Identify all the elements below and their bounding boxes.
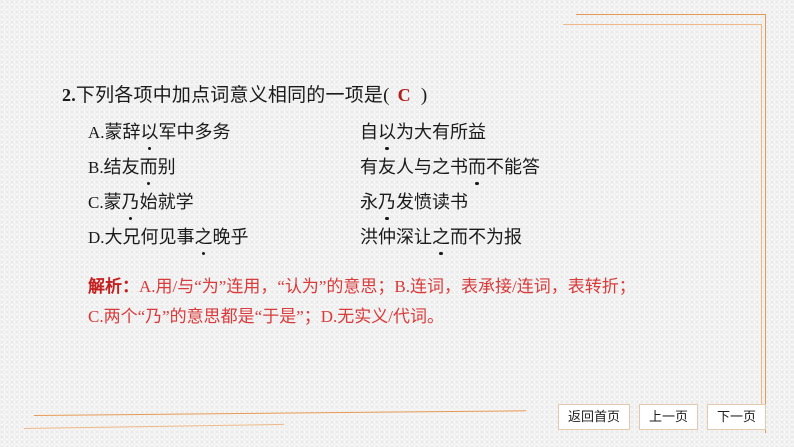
option-a-left-post: 军中多务 [159,122,231,142]
previous-page-button[interactable]: 上一页 [639,404,698,430]
option-c-right-pre: 永 [360,192,378,212]
option-a-left-pre: 蒙辞 [105,122,141,142]
navigation-bar: 返回首页 上一页 下一页 [558,404,766,430]
option-row-d: D.大兄何见事之晚乎 洪仲深让之而不为报 [88,225,628,260]
option-b-right-post: 不能答 [486,157,540,177]
option-b-left-pre: 结友 [104,157,140,177]
option-d-left-emphasis: 之 [195,227,213,247]
question-text-before: 下列各项中加点词意义相同的一项是( [76,85,390,106]
option-c-left-post: 始就学 [140,192,194,212]
option-c-right-post: 发愤读书 [396,192,468,212]
back-to-home-button[interactable]: 返回首页 [558,404,630,430]
option-d-left: D.大兄何见事之晚乎 [88,225,360,250]
option-a-right-emphasis: 以 [378,122,396,142]
option-a-right: 自以为大有所益 [360,120,628,144]
option-b-left: B.结友而别 [88,155,360,180]
option-b-left-post: 别 [158,157,176,177]
option-a-right-pre: 自 [360,122,378,142]
option-b-right-pre: 有友人与之书 [360,157,468,177]
analysis-text-2: C.两个“乃”的意思都是“于是”；D.无实义/代词。 [88,307,444,326]
option-c-left-emphasis: 乃 [122,192,140,212]
option-c-right-emphasis: 乃 [378,192,396,212]
question-stem: 2.下列各项中加点词意义相同的一项是(C) [62,80,427,107]
option-c-right: 永乃发愤读书 [360,190,628,214]
option-a-label: A. [88,123,105,142]
options-list: A.蒙辞以军中多务 自以为大有所益 B.结友而别 有友人与之书而不能答 C.蒙乃… [88,120,628,260]
option-c-label: C. [88,193,104,212]
question-number: 2. [62,85,76,105]
option-b-left-emphasis: 而 [140,157,158,177]
option-d-right: 洪仲深让之而不为报 [360,225,628,249]
option-row-b: B.结友而别 有友人与之书而不能答 [88,155,628,190]
option-a-left-emphasis: 以 [141,122,159,142]
option-d-left-post: 晚乎 [213,227,249,247]
option-d-left-pre: 大兄何见事 [105,227,195,247]
option-d-right-pre: 洪仲深让 [360,227,432,247]
analysis-label: 解析： [88,277,139,296]
option-c-left-pre: 蒙 [104,192,122,212]
analysis-line-1: 解析：A.用/与“为”连用，“认为”的意思；B.连词，表承接/连词，表转折； [88,272,738,302]
analysis-line-2: C.两个“乃”的意思都是“于是”；D.无实义/代词。 [88,302,738,332]
option-a-right-post: 为大有所益 [396,122,486,142]
next-page-button[interactable]: 下一页 [707,404,766,430]
option-b-label: B. [88,158,104,177]
option-b-right: 有友人与之书而不能答 [360,155,628,179]
question-text-after: ) [421,85,428,106]
analysis-text-1: A.用/与“为”连用，“认为”的意思；B.连词，表承接/连词，表转折； [139,277,636,296]
option-row-c: C.蒙乃始就学 永乃发愤读书 [88,190,628,225]
analysis-block: 解析：A.用/与“为”连用，“认为”的意思；B.连词，表承接/连词，表转折； C… [88,272,738,332]
answer-letter: C [390,85,421,105]
option-b-right-emphasis: 而 [468,157,486,177]
option-c-left: C.蒙乃始就学 [88,190,360,215]
option-a-left: A.蒙辞以军中多务 [88,120,360,145]
option-d-label: D. [88,228,105,247]
option-row-a: A.蒙辞以军中多务 自以为大有所益 [88,120,628,155]
option-d-right-post: 而不为报 [450,227,522,247]
option-d-right-emphasis: 之 [432,227,450,247]
